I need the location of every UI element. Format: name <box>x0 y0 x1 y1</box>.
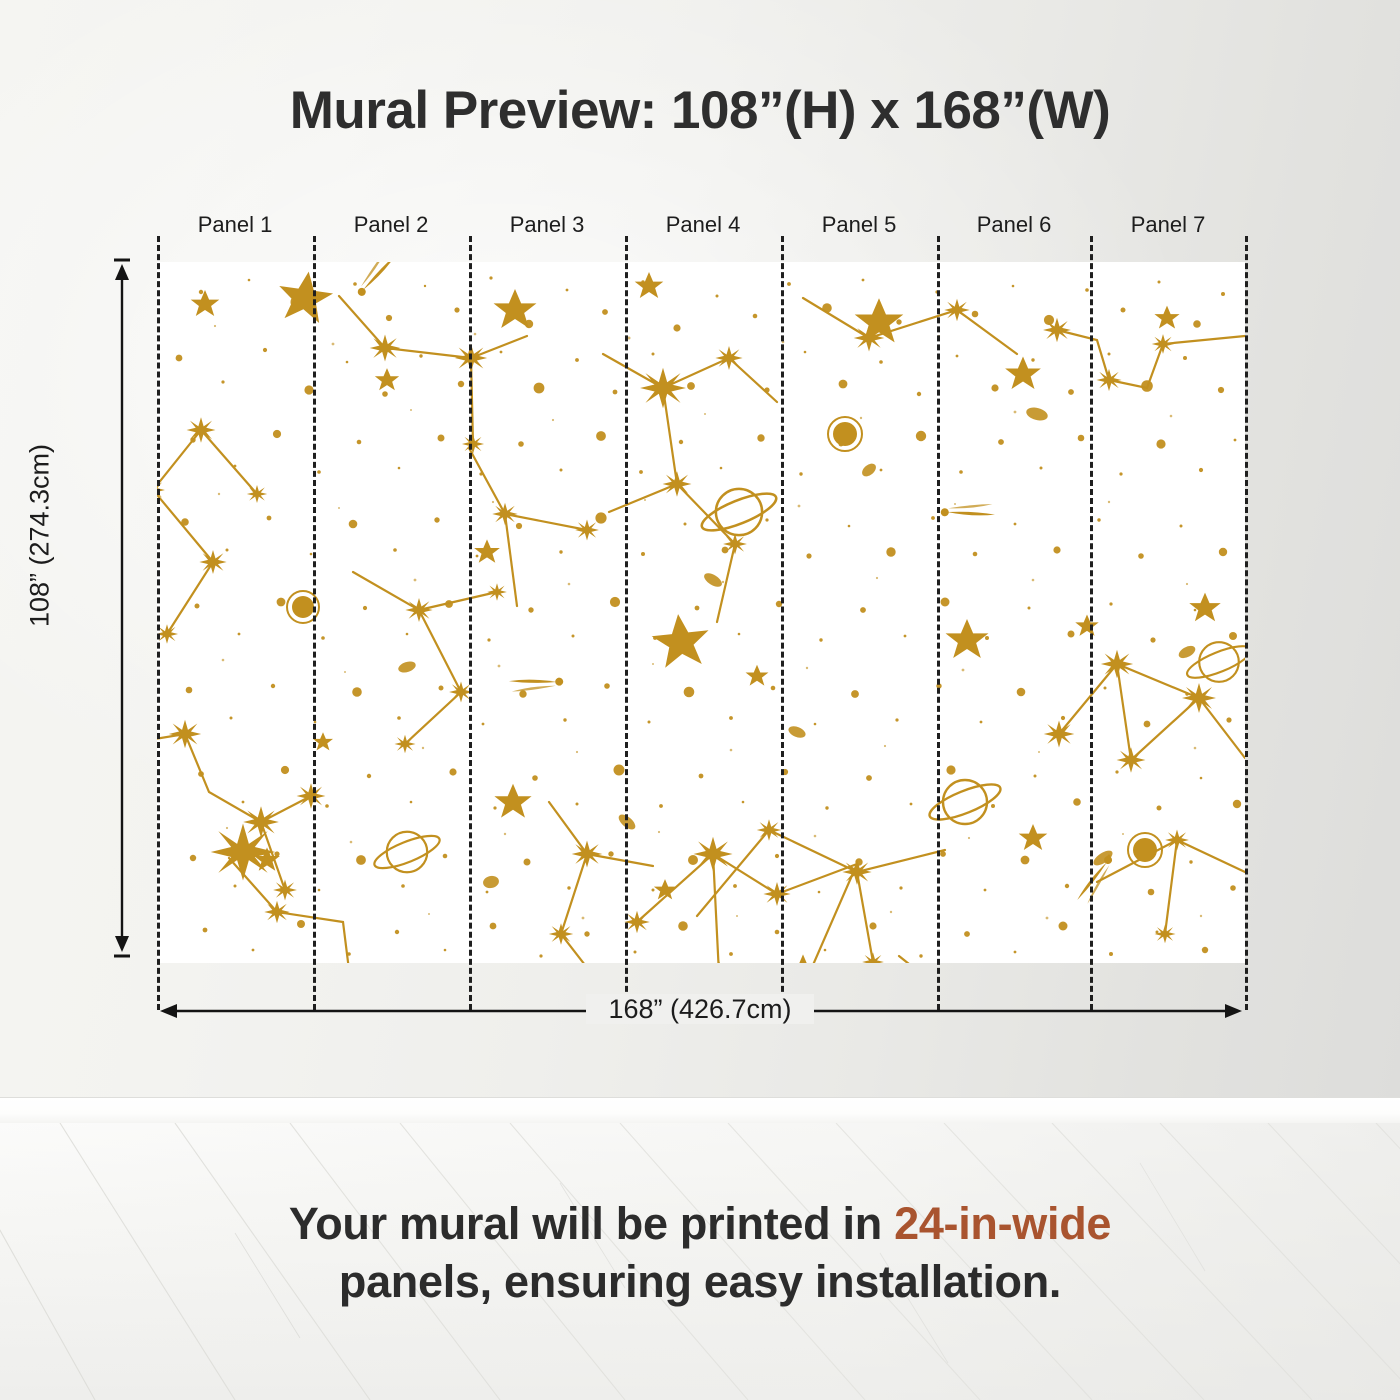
caption-line-1: Your mural will be printed in 24-in-wide <box>0 1195 1400 1253</box>
panel-divider-1 <box>313 236 316 1010</box>
panel-label-6: Panel 6 <box>977 212 1052 238</box>
width-dimension-text: 168” (426.7cm) <box>586 994 813 1024</box>
panel-divider-0 <box>157 236 160 1010</box>
mural-artwork-preview <box>157 262 1245 963</box>
panel-label-7: Panel 7 <box>1131 212 1206 238</box>
panel-divider-2 <box>469 236 472 1010</box>
caption-line-1-prefix: Your mural will be printed in <box>289 1198 894 1249</box>
panel-divider-5 <box>937 236 940 1010</box>
height-dimension-arrow <box>111 258 133 958</box>
caption-highlight: 24-in-wide <box>894 1198 1111 1249</box>
panel-divider-4 <box>781 236 784 1010</box>
baseboard <box>0 1097 1400 1126</box>
panel-label-5: Panel 5 <box>822 212 897 238</box>
width-dimension-label: 168” (426.7cm) <box>0 994 1400 1025</box>
panel-divider-7 <box>1245 236 1248 1010</box>
caption-line-2: panels, ensuring easy installation. <box>0 1253 1400 1311</box>
panel-divider-3 <box>625 236 628 1010</box>
caption: Your mural will be printed in 24-in-wide… <box>0 1195 1400 1310</box>
mural-preview-screenshot: Mural Preview: 108”(H) x 168”(W) <box>0 0 1400 1400</box>
constellation-pattern <box>157 262 1245 963</box>
height-dimension-label: 108” (274.3cm) <box>25 386 56 686</box>
panel-label-2: Panel 2 <box>354 212 429 238</box>
panel-label-3: Panel 3 <box>510 212 585 238</box>
panel-label-4: Panel 4 <box>666 212 741 238</box>
panel-label-1: Panel 1 <box>198 212 273 238</box>
page-title: Mural Preview: 108”(H) x 168”(W) <box>0 80 1400 141</box>
panel-divider-6 <box>1090 236 1093 1010</box>
